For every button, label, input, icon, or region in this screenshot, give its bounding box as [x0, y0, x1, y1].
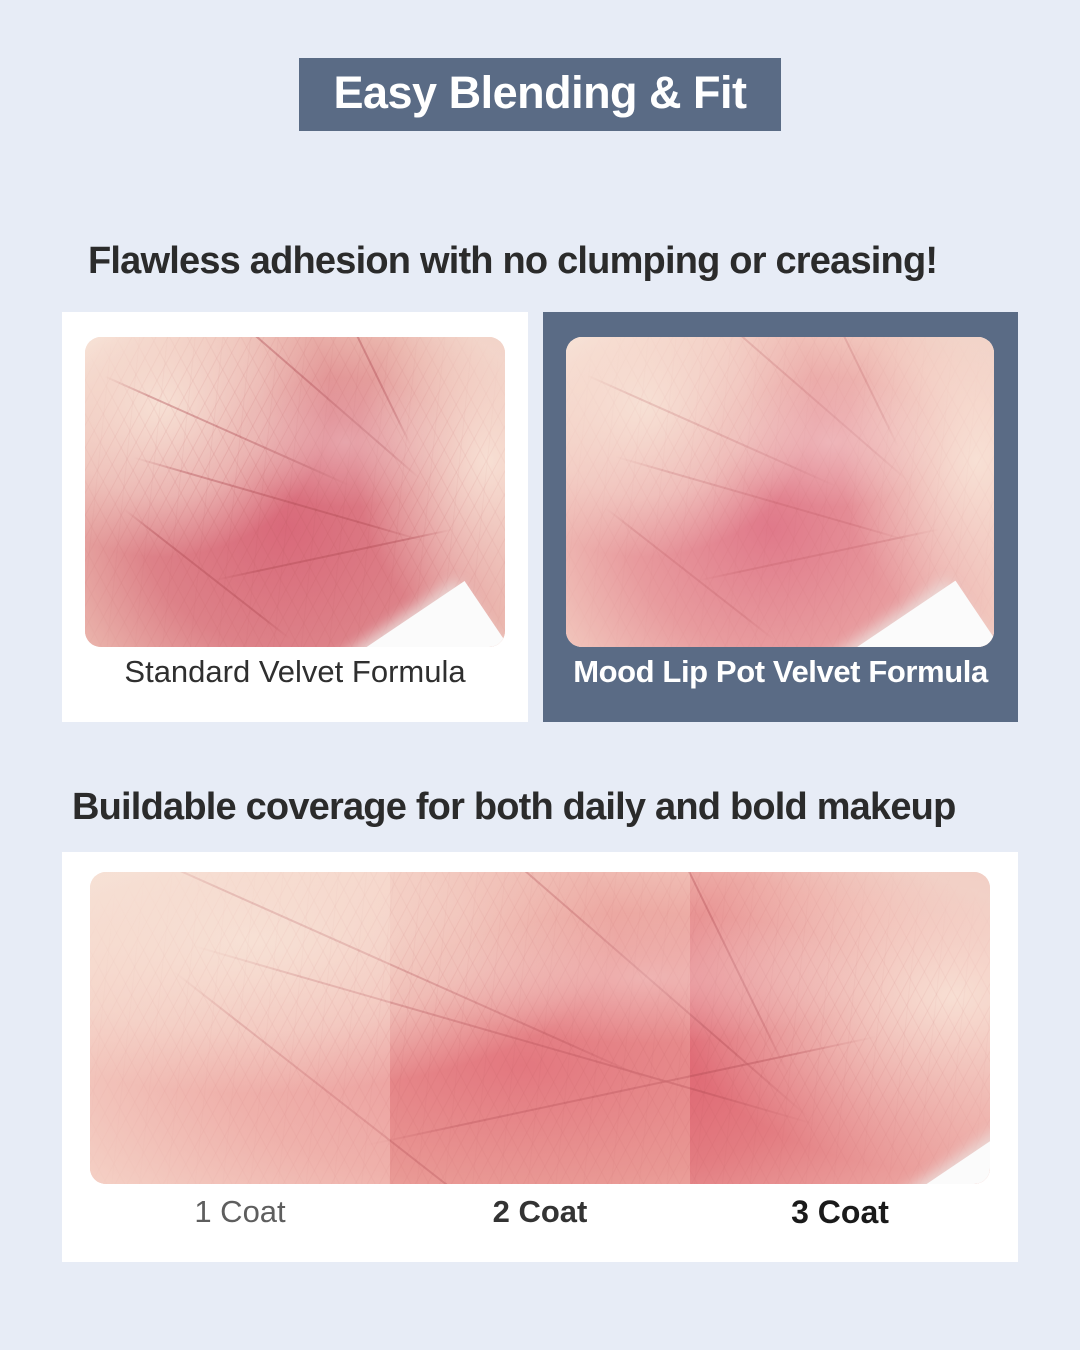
coat-label-2: 2 Coat	[390, 1194, 690, 1231]
coverage-card: 1 Coat 2 Coat 3 Coat	[62, 852, 1018, 1262]
skin-sheen	[690, 872, 990, 1184]
caption-mood-formula: Mood Lip Pot Velvet Formula	[543, 654, 1018, 690]
comparison-card-standard: Standard Velvet Formula	[62, 312, 528, 722]
caption-standard-formula: Standard Velvet Formula	[62, 654, 528, 690]
palm-swatch-image-three-coat	[690, 872, 990, 1184]
coat-label-3: 3 Coat	[690, 1194, 990, 1231]
section-heading-buildable: Buildable coverage for both daily and bo…	[72, 786, 956, 829]
header-banner-wrap: Easy Blending & Fit	[0, 58, 1080, 131]
palm-swatch-image-standard	[85, 337, 505, 647]
comparison-row: Standard Velvet Formula Mood Lip Pot Vel…	[62, 312, 1018, 722]
palm-swatch-image-two-coat	[390, 872, 690, 1184]
palm-swatch-image-mood	[566, 337, 994, 647]
coat-strip-1	[90, 872, 390, 1184]
skin-sheen	[390, 872, 690, 1184]
comparison-card-mood: Mood Lip Pot Velvet Formula	[543, 312, 1018, 722]
skin-sheen	[90, 872, 390, 1184]
coat-label-row: 1 Coat 2 Coat 3 Coat	[90, 1194, 990, 1231]
swatch-photo-standard	[85, 337, 505, 647]
coat-strip-2	[390, 872, 690, 1184]
coat-strip-3	[690, 872, 990, 1184]
palm-swatch-image-one-coat	[90, 872, 390, 1184]
section-heading-adhesion: Flawless adhesion with no clumping or cr…	[88, 240, 937, 283]
coat-label-1: 1 Coat	[90, 1194, 390, 1231]
swatch-photo-mood	[566, 337, 994, 647]
coverage-swatch-strip	[90, 872, 990, 1184]
page-title-banner: Easy Blending & Fit	[299, 58, 780, 131]
